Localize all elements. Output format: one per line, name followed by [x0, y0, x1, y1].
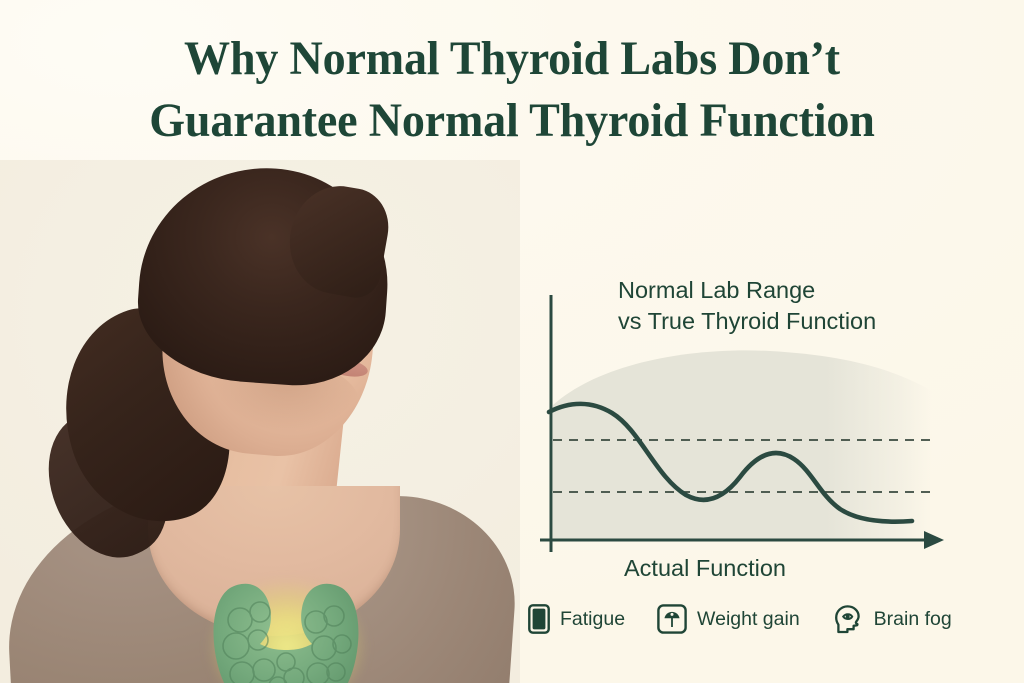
- legend-item-brain-fog[interactable]: Brain fog: [832, 603, 952, 635]
- thyroid-photo-illustration: [0, 160, 520, 683]
- normal-lab-range-band: [553, 350, 932, 540]
- legend-label-brain-fog: Brain fog: [874, 608, 952, 631]
- infographic-canvas: Why Normal Thyroid Labs Don’t Guarantee …: [0, 0, 1024, 683]
- page-title-line-2: Guarantee Normal Thyroid Function: [20, 90, 1003, 152]
- legend-label-weight-gain: Weight gain: [697, 608, 800, 631]
- symptom-legend: Fatigue Weight gain Brain fog: [528, 603, 952, 635]
- thyroid-gland-icon: [196, 578, 376, 683]
- thyroid-function-chart: Normal Lab Range vs True Thyroid Functio…: [540, 255, 980, 575]
- chart-plot-area: [540, 255, 980, 575]
- battery-icon: [528, 604, 550, 634]
- legend-item-weight-gain[interactable]: Weight gain: [657, 604, 800, 634]
- chart-x-axis-label: Actual Function: [624, 555, 786, 582]
- page-title-line-1: Why Normal Thyroid Labs Don’t: [20, 28, 1003, 90]
- weight-scale-icon: [657, 604, 687, 634]
- head-profile-icon: [832, 603, 864, 635]
- legend-item-fatigue[interactable]: Fatigue: [528, 604, 625, 634]
- legend-label-fatigue: Fatigue: [560, 608, 625, 631]
- page-title: Why Normal Thyroid Labs Don’t Guarantee …: [0, 28, 1024, 153]
- x-axis-arrowhead: [924, 531, 944, 549]
